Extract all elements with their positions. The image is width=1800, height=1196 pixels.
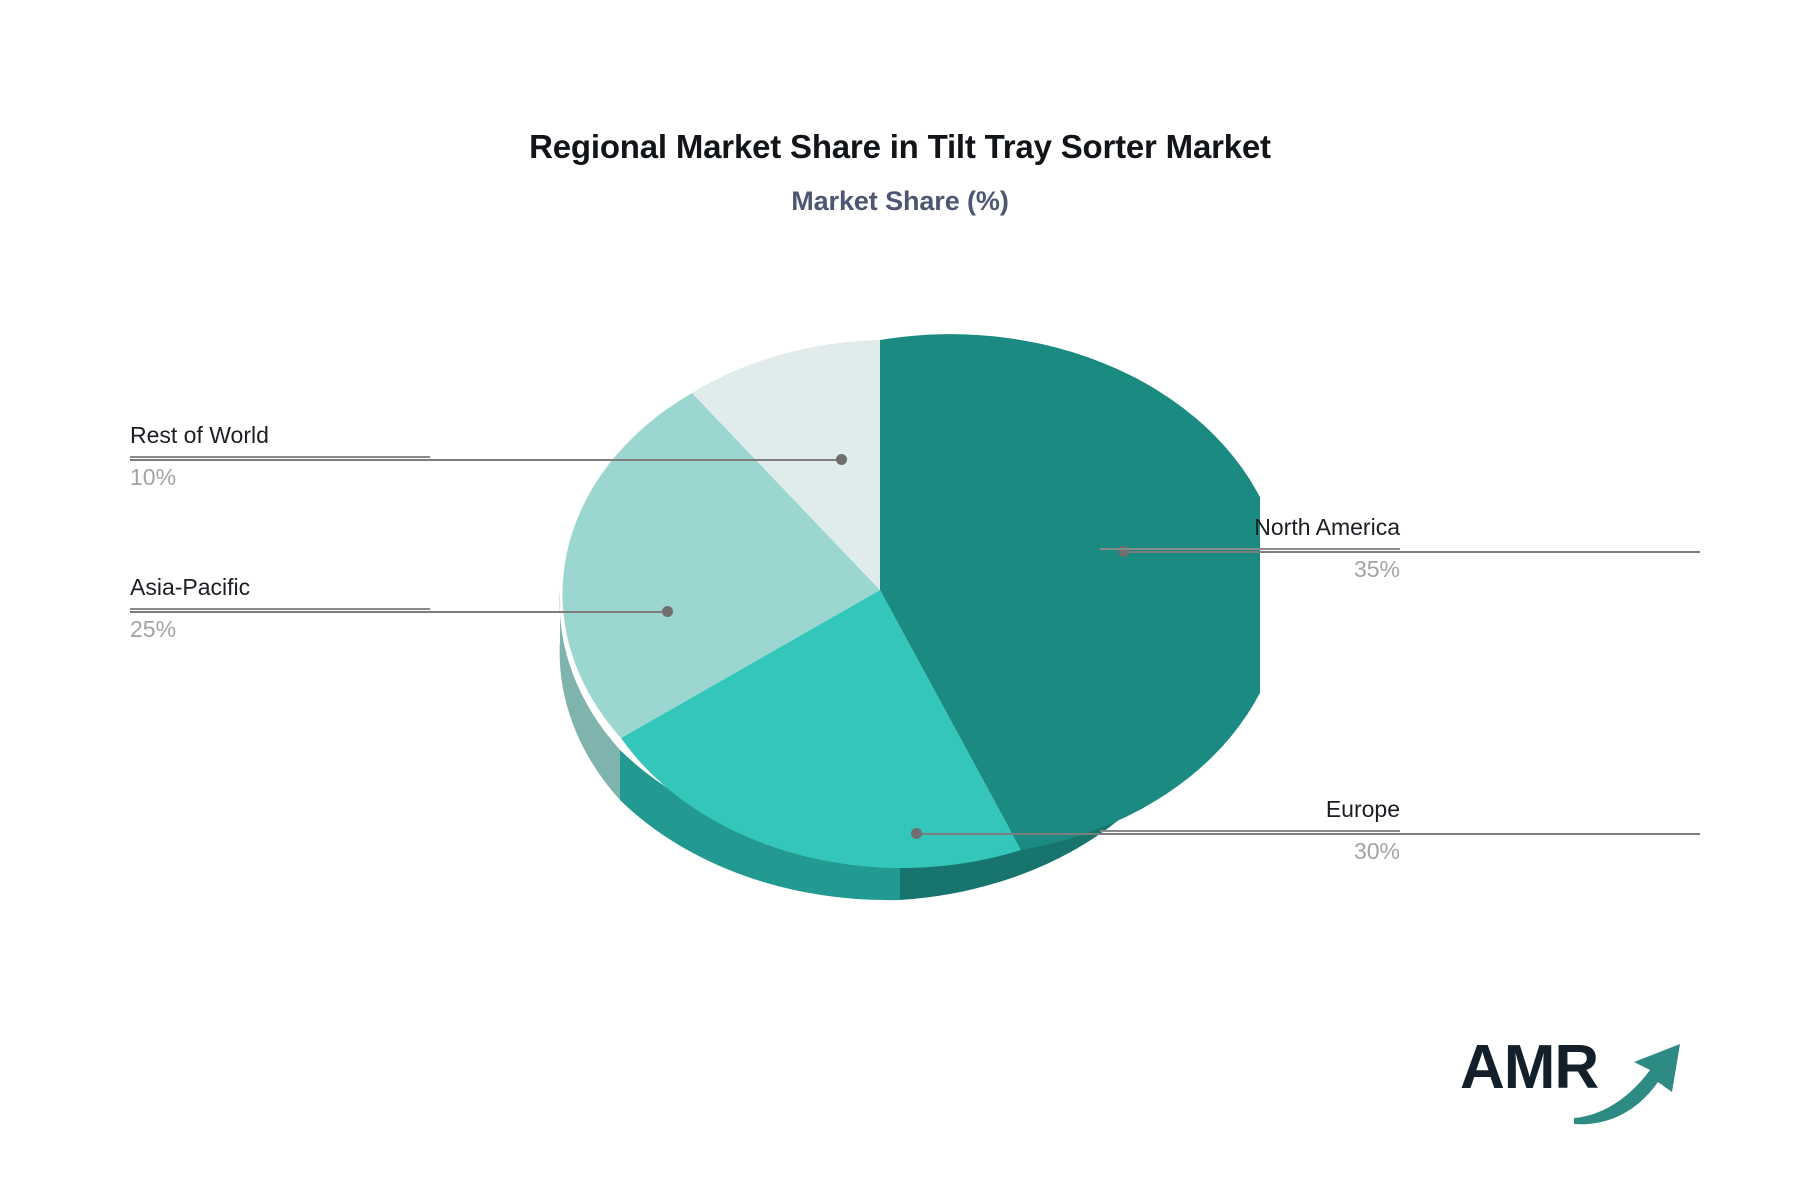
callout-europe: Europe 30% — [1100, 794, 1400, 866]
pie-chart: Rest of World 10% Asia-Pacific 25% North… — [0, 0, 1800, 1196]
callout-rule-north-america — [1100, 548, 1400, 550]
callout-value-asia-pacific: 25% — [130, 614, 430, 644]
callout-label-rest-of-world: Rest of World — [130, 420, 430, 450]
callout-value-north-america: 35% — [1100, 554, 1400, 584]
leader-dot-asia-pacific — [662, 606, 673, 617]
callout-rest-of-world: Rest of World 10% — [130, 420, 430, 492]
callout-label-north-america: North America — [1100, 512, 1400, 542]
callout-rule-europe — [1100, 830, 1400, 832]
growth-arrow-icon — [1572, 1034, 1690, 1126]
callout-value-rest-of-world: 10% — [130, 462, 430, 492]
callout-asia-pacific: Asia-Pacific 25% — [130, 572, 430, 644]
callout-rule-rest-of-world — [130, 456, 430, 458]
chart-canvas: Regional Market Share in Tilt Tray Sorte… — [0, 0, 1800, 1196]
callout-rule-asia-pacific — [130, 608, 430, 610]
leader-dot-rest-of-world — [836, 454, 847, 465]
amr-logo: AMR — [1460, 1020, 1690, 1130]
callout-value-europe: 30% — [1100, 836, 1400, 866]
callout-north-america: North America 35% — [1100, 512, 1400, 584]
leader-dot-europe — [911, 828, 922, 839]
callout-label-asia-pacific: Asia-Pacific — [130, 572, 430, 602]
callout-label-europe: Europe — [1100, 794, 1400, 824]
